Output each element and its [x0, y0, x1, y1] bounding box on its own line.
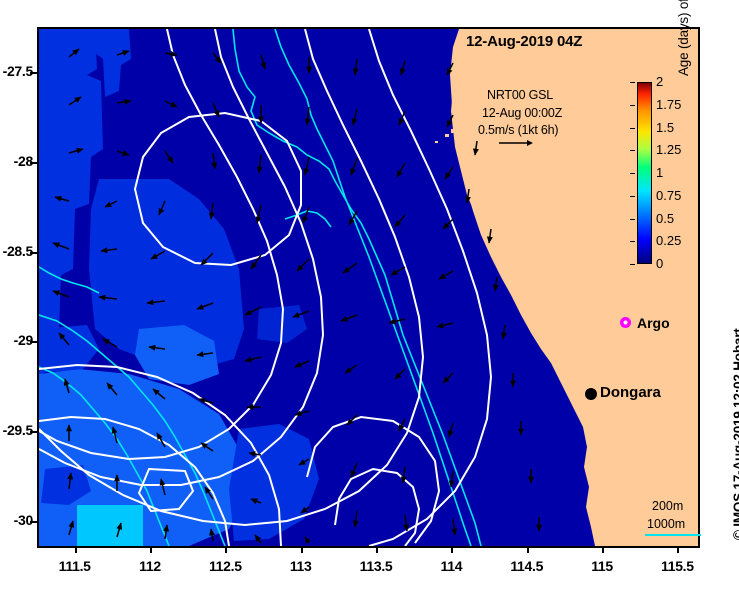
x-tick [451, 546, 453, 553]
x-tick-label-4: 113.5 [341, 558, 411, 574]
x-tick-label-5: 114 [416, 558, 486, 574]
x-tick-label-3: 113 [266, 558, 336, 574]
bathymetry-200m-label: 200m [652, 499, 683, 513]
x-tick [376, 546, 378, 553]
x-tick-label-1: 112 [115, 558, 185, 574]
map-canvas [39, 29, 698, 546]
argo-label: Argo [637, 315, 670, 331]
colorbar-tick [630, 82, 635, 83]
x-tick-label-0: 111.5 [40, 558, 110, 574]
colorbar-tick [630, 173, 635, 174]
x-tick-label-2: 112.5 [190, 558, 260, 574]
colorbar-tick-label-7: 1.75 [656, 97, 681, 112]
model-time-label: 12-Aug 00:00Z [482, 106, 562, 120]
x-tick [677, 546, 679, 553]
map-title: 12-Aug-2019 04Z [466, 33, 582, 50]
x-tick [527, 546, 529, 553]
x-tick-label-8: 115.5 [642, 558, 712, 574]
colorbar-tick [630, 219, 635, 220]
y-tick-label-5: -30 [0, 512, 33, 528]
colorbar-tick [630, 196, 635, 197]
y-tick-label-0: -27.5 [0, 63, 33, 79]
x-tick [75, 546, 77, 553]
map-plot-area[interactable] [37, 27, 700, 548]
colorbar-tick-label-5: 1.25 [656, 142, 681, 157]
colorbar-title: Age (days) of filled SST (wrt latest) [676, 0, 691, 76]
model-name-label: NRT00 GSL [487, 88, 553, 102]
x-tick-label-6: 114.5 [492, 558, 562, 574]
bathymetry-legend-line [645, 534, 701, 536]
x-tick [150, 546, 152, 553]
x-tick [301, 546, 303, 553]
dongara-label: Dongara [600, 384, 661, 401]
colorbar-tick-label-0: 0 [656, 256, 663, 271]
colorbar-tick-label-4: 1 [656, 165, 663, 180]
colorbar-tick [630, 128, 635, 129]
y-tick-label-2: -28.5 [0, 243, 33, 259]
colorbar-tick [630, 150, 635, 151]
vector-scale-label: 0.5m/s (1kt 6h) [478, 123, 558, 137]
colorbar-tick-label-3: 0.75 [656, 188, 681, 203]
y-tick-label-4: -29.5 [0, 422, 33, 438]
dongara-town-marker-icon[interactable] [585, 388, 597, 400]
x-tick-label-7: 115 [567, 558, 637, 574]
ocean-map-figure: 12-Aug-2019 04Z NRT00 GSL 12-Aug 00:00Z … [0, 0, 739, 592]
colorbar-tick [630, 105, 635, 106]
colorbar [637, 82, 652, 264]
copyright-credit: © IMOS 17-Aug-2019 12:02 Hobart [731, 328, 739, 540]
reference-arrow-icon [498, 137, 534, 149]
colorbar-tick-label-8: 2 [656, 74, 663, 89]
colorbar-tick-label-2: 0.5 [656, 211, 674, 226]
x-tick [602, 546, 604, 553]
y-tick-label-1: -28 [0, 153, 33, 169]
colorbar-tick-label-6: 1.5 [656, 120, 674, 135]
colorbar-tick [630, 264, 635, 265]
argo-float-marker-icon[interactable] [619, 316, 632, 329]
bathymetry-1000m-label: 1000m [647, 517, 685, 531]
x-tick [225, 546, 227, 553]
colorbar-tick-label-1: 0.25 [656, 233, 681, 248]
y-tick-label-3: -29 [0, 332, 33, 348]
colorbar-tick [630, 241, 635, 242]
